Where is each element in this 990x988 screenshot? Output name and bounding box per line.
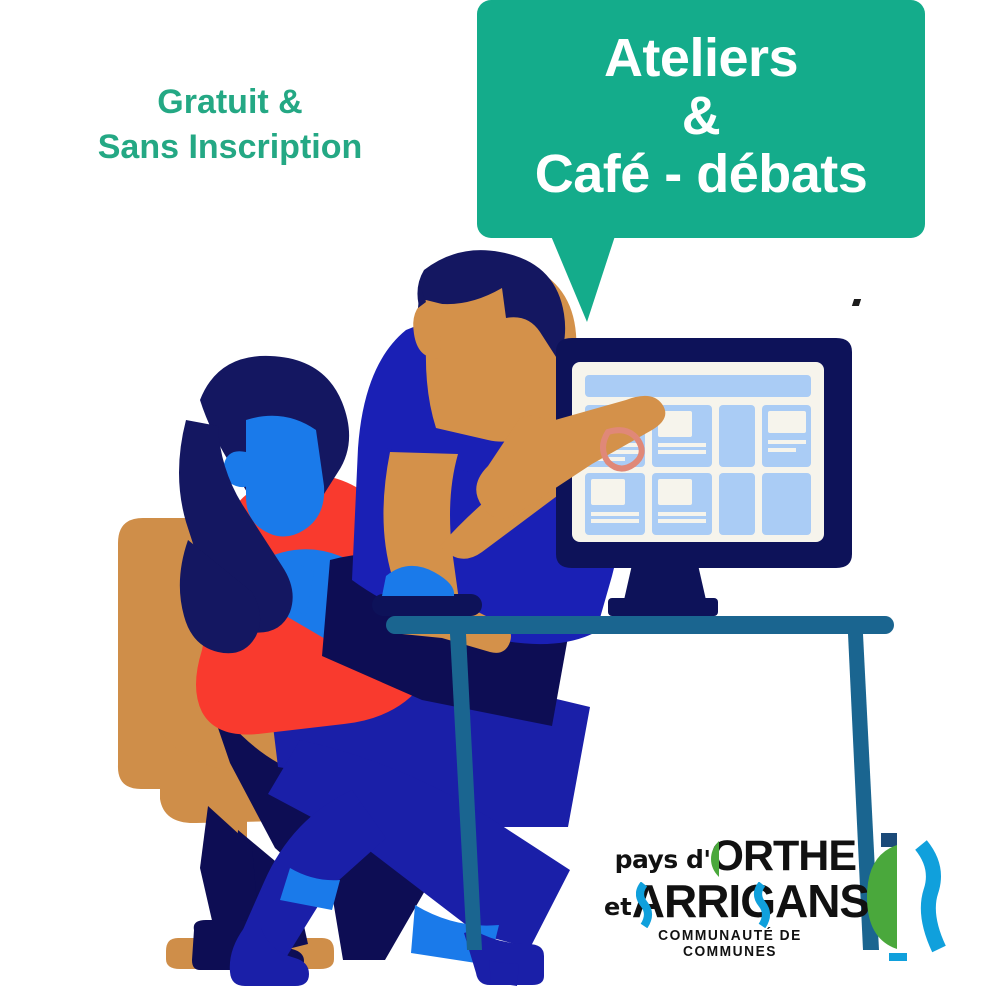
logo-row-orthe: pays d' ORTHE (604, 833, 856, 877)
free-notice-line2: Sans Inscription (40, 125, 420, 170)
bubble-line-ateliers: Ateliers (604, 30, 798, 88)
logo-subtitle: COMMUNAUTÉ DE COMMUNES (610, 928, 849, 960)
bubble-line-ampersand: & (682, 88, 721, 146)
logo-mark-leaf-river (859, 833, 967, 961)
logo-et-text: et (604, 893, 632, 924)
logo-orthe-text: ORTHE (711, 832, 857, 880)
logo-river-accents (636, 882, 796, 928)
free-notice: Gratuit & Sans Inscription (40, 80, 420, 170)
poster-canvas: Gratuit & Sans Inscription Ateliers & Ca… (0, 0, 990, 988)
bubble-line-cafe-debats: Café - débats (535, 146, 868, 204)
logo-wordmark: pays d' ORTHE et ARRIGANS (604, 833, 856, 960)
logo-pays-orthe-arrigans: pays d' ORTHE et ARRIGANS (604, 833, 966, 963)
free-notice-line1: Gratuit & (40, 80, 420, 125)
logo-pays-text: pays d' (615, 845, 711, 877)
logo-o-leaf-accent (711, 839, 719, 879)
keyboard (372, 594, 482, 616)
speech-bubble: Ateliers & Café - débats (477, 0, 925, 238)
logo-row-arrigans: et ARRIGANS (604, 878, 856, 924)
speech-bubble-tail (551, 236, 615, 322)
